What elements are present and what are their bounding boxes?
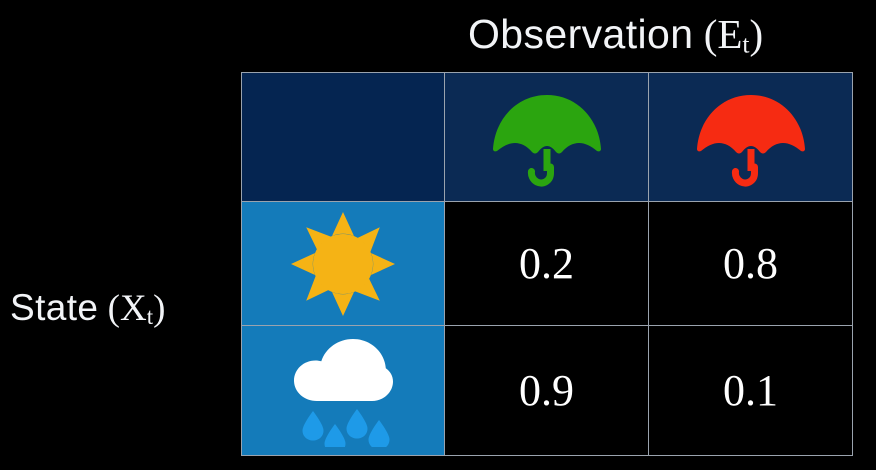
probability-value: 0.8 xyxy=(649,242,852,286)
probability-cell: 0.8 xyxy=(649,202,853,326)
column-header-umbrella-true xyxy=(445,73,649,202)
table-corner-cell xyxy=(242,73,445,202)
probability-cell: 0.2 xyxy=(445,202,649,326)
observation-label-text: Observation xyxy=(468,11,693,57)
table-header-row xyxy=(242,73,853,202)
state-axis-label: State (Xt) xyxy=(10,289,165,327)
sun-icon xyxy=(242,202,444,325)
table-row: 0.9 0.1 xyxy=(242,326,853,456)
sensor-model-table: 0.2 0.8 xyxy=(241,72,853,456)
state-symbol-letter: X xyxy=(120,288,147,329)
observation-axis-label: Observation (Et) xyxy=(468,14,763,55)
probability-value: 0.2 xyxy=(445,242,648,286)
observation-symbol: (Et) xyxy=(693,11,763,57)
figure-canvas: Observation (Et) State (Xt) xyxy=(0,0,876,470)
umbrella-green-icon xyxy=(445,73,648,201)
table-row: 0.2 0.8 xyxy=(242,202,853,326)
row-header-state-rainy xyxy=(242,326,445,456)
state-symbol-subscript: t xyxy=(147,304,153,329)
rain-cloud-icon xyxy=(242,326,444,455)
probability-cell: 0.9 xyxy=(445,326,649,456)
state-symbol: (Xt) xyxy=(98,288,165,329)
observation-symbol-subscript: t xyxy=(742,31,749,59)
observation-symbol-letter: E xyxy=(717,11,742,57)
probability-value: 0.1 xyxy=(649,369,852,413)
umbrella-red-icon xyxy=(649,73,852,201)
column-header-umbrella-false xyxy=(649,73,853,202)
row-header-state-sunny xyxy=(242,202,445,326)
state-label-text: State xyxy=(10,287,98,328)
probability-value: 0.9 xyxy=(445,369,648,413)
probability-cell: 0.1 xyxy=(649,326,853,456)
